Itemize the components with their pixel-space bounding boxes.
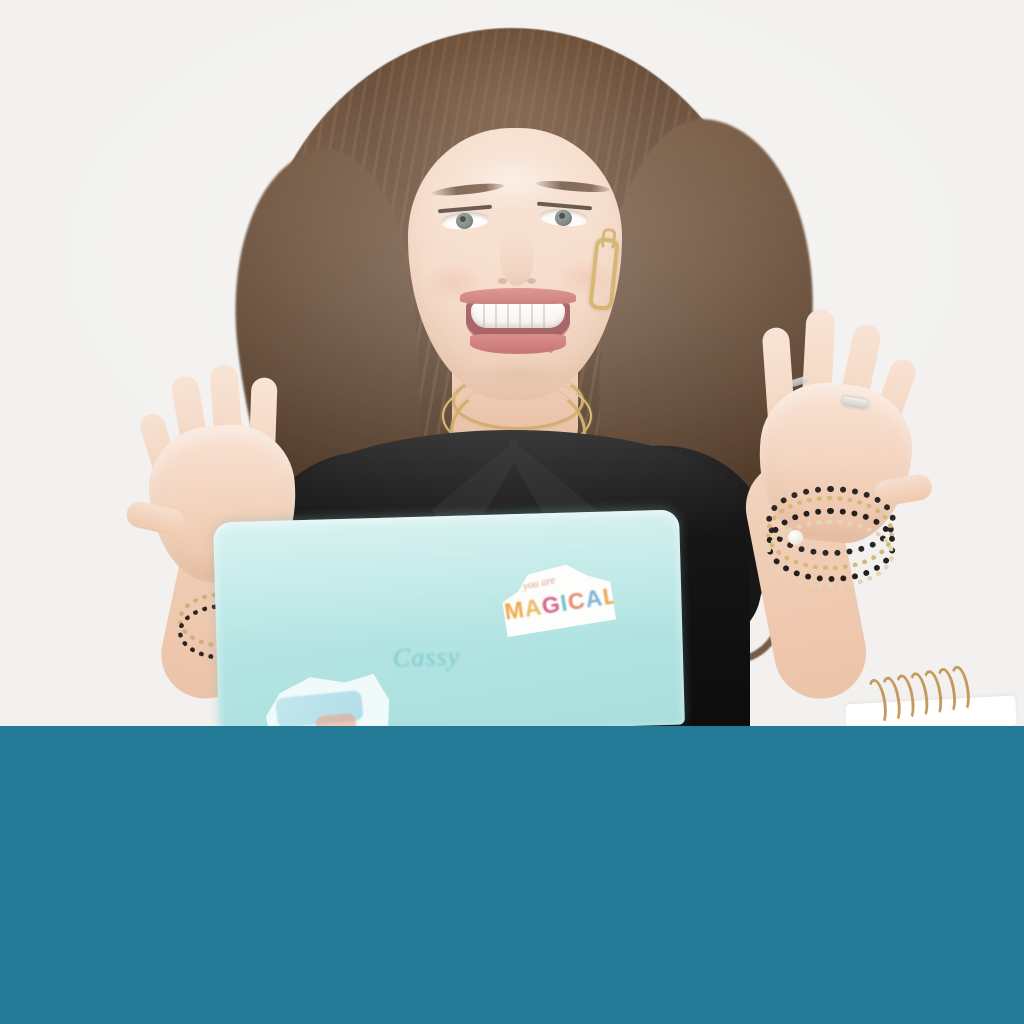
upper-lip (460, 288, 576, 304)
beaded-bracelets (766, 486, 884, 582)
nostril-left (498, 278, 507, 284)
secondary-sticker (257, 665, 395, 726)
chin-shadow (470, 358, 566, 390)
beauty-mark (548, 348, 553, 353)
teal-banner: Sales Summit BIA Cassy Williamson, Sales… (0, 726, 1024, 1024)
speaker-photo: Cassy you are MAGICAL (0, 0, 1024, 726)
laptop-sheen (213, 510, 682, 652)
nostril-right (527, 278, 536, 284)
sticker-main-text: MAGICAL (503, 582, 620, 626)
laptop-lid: Cassy you are MAGICAL (213, 510, 685, 726)
promo-graphic: Cassy you are MAGICAL (0, 0, 1024, 1024)
spiral-binding-icon (863, 664, 976, 726)
laptop-engraved-name: Cassy (393, 640, 514, 677)
teeth (471, 302, 565, 328)
sticker-top-line: you are (522, 574, 557, 592)
